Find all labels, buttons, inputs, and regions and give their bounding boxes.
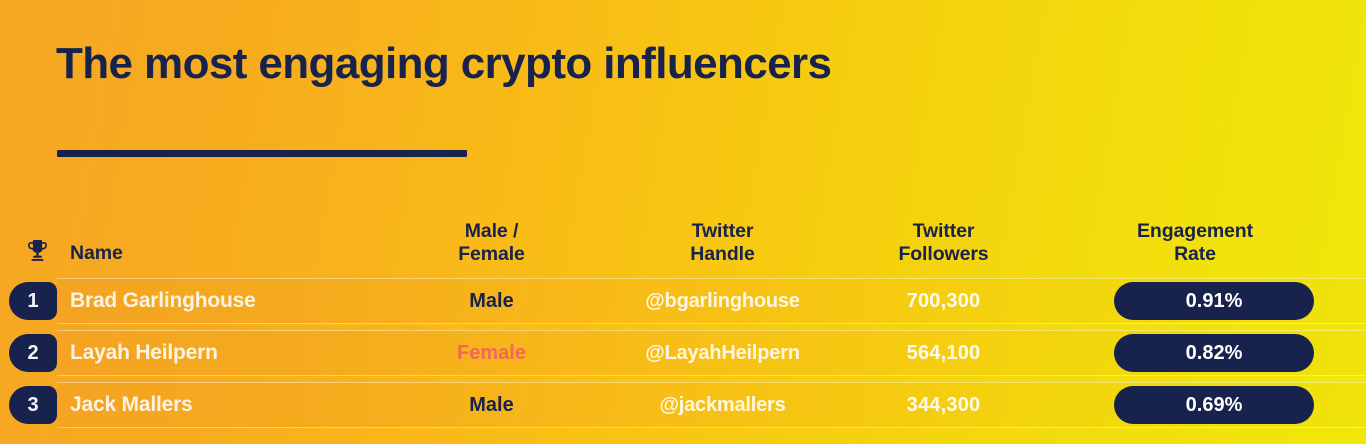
header-cell-handle: Twitter Handle <box>604 220 841 266</box>
title-underline-rule <box>57 150 467 157</box>
header-cell-gender: Male / Female <box>379 220 604 266</box>
engagement-rate-cell: 0.69% <box>1046 386 1366 424</box>
twitter-handle[interactable]: @LayahHeilpern <box>604 342 841 365</box>
rank-cell: 2 <box>0 330 57 376</box>
engagement-rate-pill: 0.91% <box>1114 282 1314 320</box>
table-row[interactable]: 1 Brad Garlinghouse Male @bgarlinghouse … <box>0 278 1366 324</box>
table-row[interactable]: 3 Jack Mallers Male @jackmallers 344,300… <box>0 382 1366 428</box>
gender-value: Male <box>379 394 604 417</box>
header-cell-name: Name <box>57 242 379 266</box>
header-cell-gender-line2: Female <box>379 243 604 266</box>
engagement-rate-pill: 0.69% <box>1114 386 1314 424</box>
influencers-table: Name Male / Female Twitter Handle Twitte… <box>0 198 1366 434</box>
twitter-handle[interactable]: @jackmallers <box>604 394 841 417</box>
rank-badge: 1 <box>9 282 57 320</box>
header-cell-rank <box>0 239 57 266</box>
gender-value: Male <box>379 290 604 313</box>
header-cell-followers-line1: Twitter <box>841 220 1046 243</box>
twitter-followers: 344,300 <box>841 394 1046 417</box>
table-header-row: Name Male / Female Twitter Handle Twitte… <box>0 198 1366 278</box>
influencer-name: Layah Heilpern <box>57 341 379 365</box>
header-cell-handle-line1: Twitter <box>604 220 841 243</box>
engagement-rate-pill: 0.82% <box>1114 334 1314 372</box>
header-cell-followers: Twitter Followers <box>841 220 1046 266</box>
influencer-name: Jack Mallers <box>57 393 379 417</box>
twitter-followers: 564,100 <box>841 342 1046 365</box>
header-cell-engagement-rate-line2: Rate <box>1046 243 1344 266</box>
header-cell-engagement-rate: Engagement Rate <box>1046 220 1366 266</box>
trophy-icon <box>25 239 50 264</box>
table-row[interactable]: 2 Layah Heilpern Female @LayahHeilpern 5… <box>0 330 1366 376</box>
influencer-name: Brad Garlinghouse <box>57 289 379 313</box>
header-cell-followers-line2: Followers <box>841 243 1046 266</box>
page-title: The most engaging crypto influencers <box>56 36 831 92</box>
rank-cell: 1 <box>0 278 57 324</box>
header-cell-handle-line2: Handle <box>604 243 841 266</box>
rank-badge: 3 <box>9 386 57 424</box>
header-cell-gender-line1: Male / <box>379 220 604 243</box>
twitter-followers: 700,300 <box>841 290 1046 313</box>
rank-badge: 2 <box>9 334 57 372</box>
twitter-handle[interactable]: @bgarlinghouse <box>604 290 841 313</box>
gender-value: Female <box>379 342 604 365</box>
engagement-rate-cell: 0.91% <box>1046 282 1366 320</box>
rank-cell: 3 <box>0 382 57 428</box>
header-cell-engagement-rate-line1: Engagement <box>1046 220 1344 243</box>
engagement-rate-cell: 0.82% <box>1046 334 1366 372</box>
